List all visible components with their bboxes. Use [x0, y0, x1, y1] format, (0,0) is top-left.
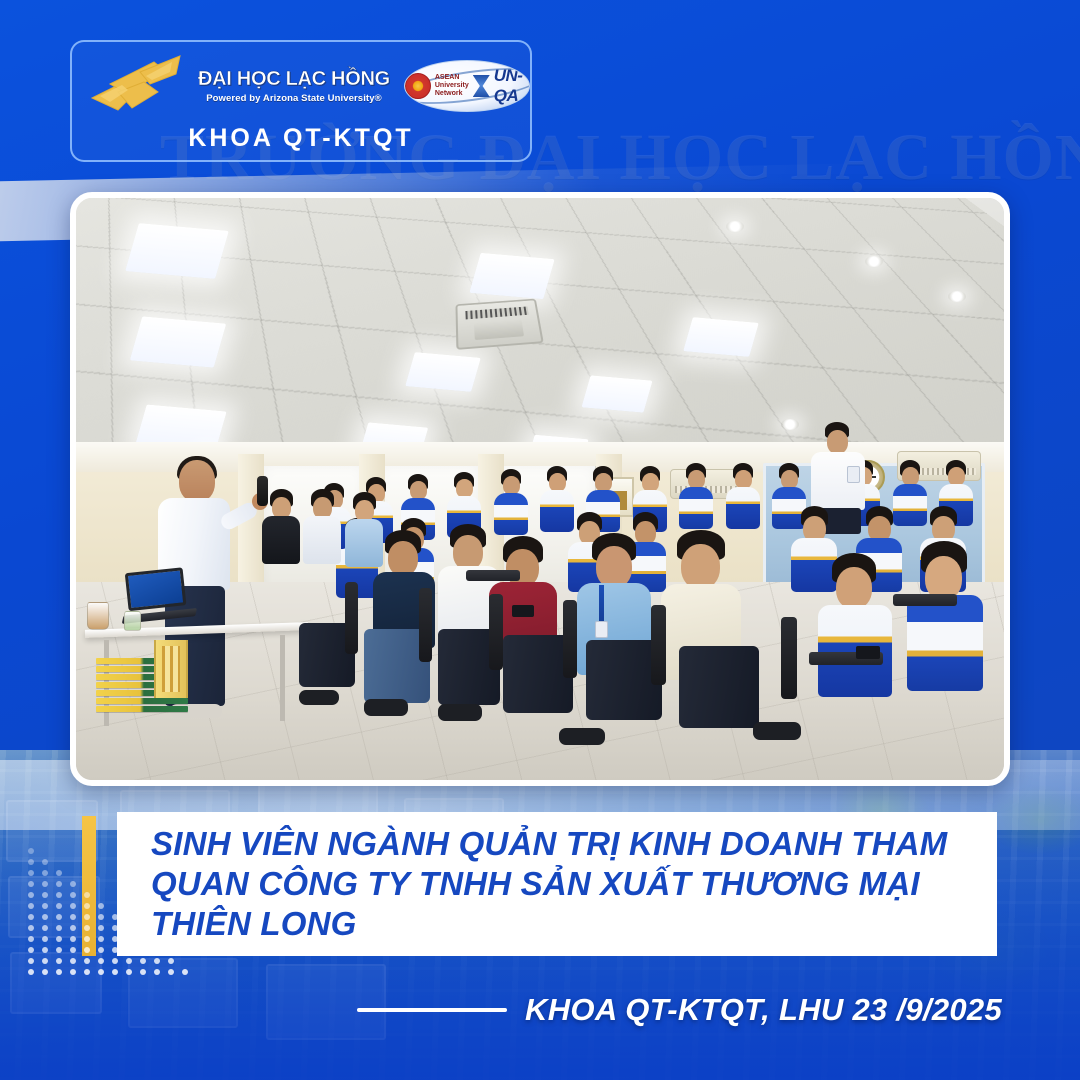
dot [154, 947, 160, 953]
dot [140, 947, 146, 953]
dot [98, 947, 104, 953]
dot [98, 914, 104, 920]
dot [28, 892, 34, 898]
dot [126, 936, 132, 942]
dot [70, 903, 76, 909]
footer-rule [357, 1008, 507, 1012]
dot [84, 969, 90, 975]
dot [28, 969, 34, 975]
title-line-1: SINH VIÊN NGÀNH QUẢN TRỊ KINH DOANH THAM [151, 824, 997, 864]
shoe [753, 722, 801, 740]
dot [28, 914, 34, 920]
dot [70, 914, 76, 920]
chair-tablet-arm [893, 594, 957, 606]
dot [168, 969, 174, 975]
dot [112, 914, 118, 920]
dot [28, 947, 34, 953]
aun-qa-accreditation-logo: ASEAN University Network UN-QA [404, 60, 530, 112]
footer-caption: KHOA QT-KTQT, LHU 23 /9/2025 [525, 992, 1002, 1028]
dot [98, 958, 104, 964]
dot [126, 958, 132, 964]
chair [651, 605, 666, 685]
title-line-3: THIÊN LONG [151, 904, 997, 944]
smartphone [512, 605, 534, 617]
asean-emblem-icon [405, 73, 431, 99]
aun-qa-label: UN-QA [494, 66, 529, 106]
dot [112, 958, 118, 964]
event-photo-frame [70, 192, 1010, 786]
decorative-dot-grid [28, 848, 198, 988]
chair [345, 582, 358, 654]
shoe [559, 728, 605, 745]
asean-network-text: ASEAN University Network [435, 74, 469, 98]
dot [126, 925, 132, 931]
dot [42, 925, 48, 931]
dot [84, 947, 90, 953]
dot [28, 936, 34, 942]
header-logo-bar: ĐẠI HỌC LẠC HỒNG Powered by Arizona Stat… [70, 40, 532, 162]
dot [112, 936, 118, 942]
dot [140, 969, 146, 975]
dot [84, 914, 90, 920]
dot [56, 947, 62, 953]
footer-caption-row: KHOA QT-KTQT, LHU 23 /9/2025 [0, 985, 1080, 1035]
dot [98, 936, 104, 942]
dot [42, 958, 48, 964]
dot [70, 958, 76, 964]
dot [28, 958, 34, 964]
dot [84, 903, 90, 909]
dot [42, 903, 48, 909]
dot [168, 958, 174, 964]
dot [42, 881, 48, 887]
dot [28, 903, 34, 909]
dot [56, 958, 62, 964]
dot [56, 903, 62, 909]
dot [42, 914, 48, 920]
id-badge [595, 621, 608, 638]
smartphone [856, 646, 880, 659]
dot [28, 870, 34, 876]
dot [42, 859, 48, 865]
university-name-block: ĐẠI HỌC LẠC HỒNG Powered by Arizona Stat… [198, 68, 390, 104]
shoe [299, 690, 339, 705]
dot [56, 969, 62, 975]
dot [42, 947, 48, 953]
dot [56, 881, 62, 887]
dot [70, 892, 76, 898]
chair [781, 617, 797, 699]
dot [112, 925, 118, 931]
poster-canvas: TRƯỜNG ĐẠI HỌC LẠC HỒNG [0, 0, 1080, 1080]
dot [28, 881, 34, 887]
dot [84, 936, 90, 942]
university-name-en: Powered by Arizona State University® [206, 93, 382, 104]
dot [154, 969, 160, 975]
university-name-vn: ĐẠI HỌC LẠC HỒNG [198, 68, 390, 91]
dot [28, 848, 34, 854]
lac-hong-bird-arrow-logo-icon [88, 52, 184, 120]
aun-hourglass-icon [473, 75, 490, 97]
dot [70, 947, 76, 953]
dot [112, 947, 118, 953]
event-photo [76, 198, 1004, 780]
dot [70, 881, 76, 887]
dot [70, 925, 76, 931]
dot [56, 892, 62, 898]
dot [140, 958, 146, 964]
title-line-2: QUAN CÔNG TY TNHH SẢN XUẤT THƯƠNG MẠI [151, 864, 997, 904]
dot [42, 892, 48, 898]
dot [84, 925, 90, 931]
dot [140, 936, 146, 942]
dot [42, 936, 48, 942]
lanyard [599, 585, 604, 621]
dot [56, 870, 62, 876]
chair-tablet-arm [466, 570, 520, 581]
dot [112, 969, 118, 975]
shoe [438, 704, 482, 721]
dot [84, 892, 90, 898]
dot [98, 925, 104, 931]
title-panel: SINH VIÊN NGÀNH QUẢN TRỊ KINH DOANH THAM… [117, 812, 997, 956]
dot [56, 925, 62, 931]
dot [98, 969, 104, 975]
chair [563, 600, 577, 678]
dot [56, 914, 62, 920]
chair [489, 594, 503, 670]
logo-row: ĐẠI HỌC LẠC HỒNG Powered by Arizona Stat… [88, 52, 530, 120]
dot [84, 958, 90, 964]
dot [182, 969, 188, 975]
dot [56, 936, 62, 942]
shoe [364, 699, 408, 716]
dot [42, 870, 48, 876]
dot [42, 969, 48, 975]
dot [126, 947, 132, 953]
dot [98, 903, 104, 909]
audience-crowd [76, 198, 1004, 780]
dot [154, 958, 160, 964]
dot [70, 936, 76, 942]
dot [126, 969, 132, 975]
attendee-legs [679, 646, 759, 728]
dot [70, 969, 76, 975]
dot [28, 859, 34, 865]
chair [419, 588, 432, 662]
dot [28, 925, 34, 931]
faculty-label: KHOA QT-KTQT [72, 124, 530, 153]
